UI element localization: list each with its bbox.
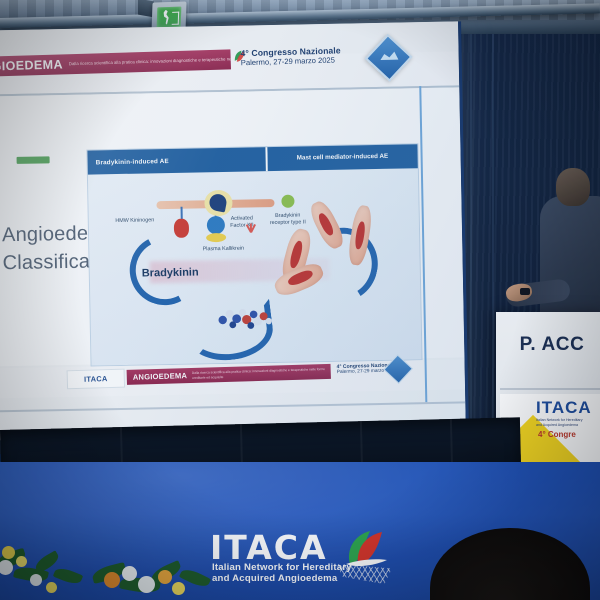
kallikrein-dot — [206, 233, 226, 242]
figure-tab-mastcell: Mast cell mediator-induced AE — [267, 144, 418, 171]
wall-seam — [492, 34, 494, 454]
poster-logo: ITACA — [536, 398, 592, 418]
presenter-clicker — [520, 288, 530, 295]
watermark-line1: Italian Network for Hereditary — [212, 562, 352, 573]
accent-bar — [17, 156, 50, 164]
figure-tab-bradykinin: Bradykinin-induced AE — [87, 147, 267, 174]
kininogen-drop — [174, 219, 189, 238]
molecule-model — [212, 301, 279, 332]
slide-header-event-title: ANGIOEDEMA — [0, 57, 63, 74]
watermark-swoosh-icon — [344, 530, 388, 566]
itaca-logo-text: ITACA — [84, 374, 108, 384]
slide-body: Angioedema Classification Bradykinin-ind… — [0, 87, 464, 366]
label-plasma-kallikrein: Plasma Kallikrein — [195, 245, 251, 253]
label-bradykinin-receptor: Bradykinin receptor type II — [267, 212, 309, 226]
arrow-left — [121, 226, 208, 313]
bradykinin-receptor-dot — [281, 195, 294, 208]
conference-photo: ANGIOEDEMA Dalla ricerca scientifica all… — [0, 0, 600, 600]
watermark-line2: and Acquired Angioedema — [212, 573, 337, 584]
itaca-watermark-logo: ITACA Italian Network for Hereditary and… — [196, 528, 406, 588]
podium-divider — [500, 388, 600, 390]
mast-cell-icon — [204, 190, 232, 217]
spark-icon — [241, 223, 261, 241]
figure-canvas: HMW Kininogen Activated Factor XII Plasm… — [88, 168, 422, 365]
wall-seam — [470, 34, 472, 454]
speaker-name-plate: P. ACC — [496, 334, 600, 356]
slide-header-event-subtitle: Dalla ricerca scientifica alla pratica c… — [63, 55, 231, 68]
label-hmw-kininogen: HMW Kininogen — [109, 217, 161, 225]
poster-network-line2: and Acquired Angioedema — [536, 423, 583, 428]
poster-network-line: Italian Network for Hereditary and Acqui… — [536, 418, 583, 428]
factor-xii-dot — [207, 216, 225, 234]
projection-screen: ANGIOEDEMA Dalla ricerca scientifica all… — [0, 21, 466, 440]
watermark-network-pattern — [338, 564, 392, 584]
slide-footer-event-subtitle: Dalla ricerca scientifica alla pratica c… — [187, 367, 331, 380]
slide-footer-event-title: ANGIOEDEMA — [127, 371, 188, 382]
slide-header-congress: 4° Congresso Nazionale Palermo, 27-29 ma… — [240, 44, 371, 67]
slide-footer-itaca-logo: ITACA — [67, 369, 126, 390]
pathway-figure: Bradykinin-induced AE Mast cell mediator… — [86, 143, 422, 366]
poster-congress-title: 4° Congre — [538, 430, 576, 439]
speaker-head — [556, 168, 590, 206]
